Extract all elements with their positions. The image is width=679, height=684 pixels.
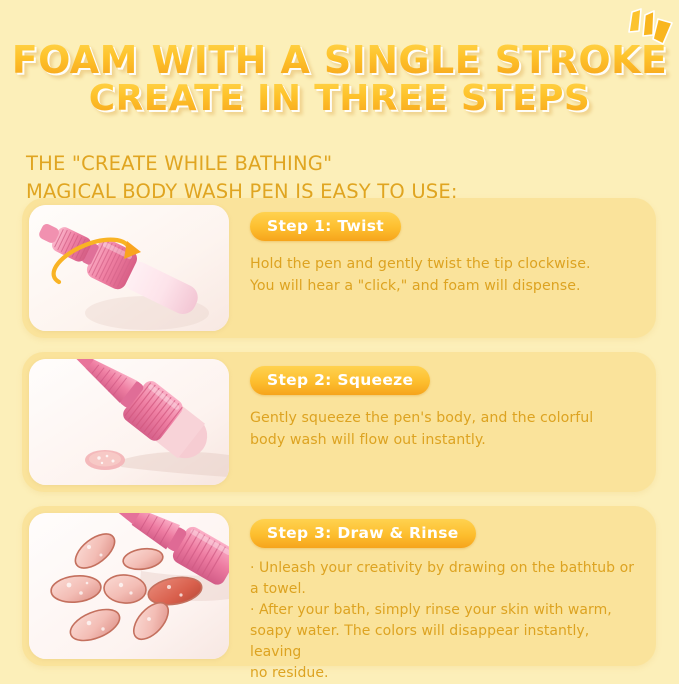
- step-2-description: Gently squeeze the pen's body, and the c…: [250, 407, 638, 451]
- step-card-3: Step 3: Draw & Rinse · Unleash your crea…: [22, 506, 656, 666]
- infographic-page: FOAM WITH A SINGLE STROKE CREATE IN THRE…: [0, 0, 679, 679]
- step-3-badge: Step 3: Draw & Rinse: [250, 519, 476, 548]
- step-3-description: · Unleash your creativity by drawing on …: [250, 558, 638, 684]
- step-3-body: Step 3: Draw & Rinse · Unleash your crea…: [250, 519, 638, 684]
- step-2-body: Step 2: Squeeze Gently squeeze the pen's…: [250, 366, 638, 451]
- step-card-2: Step 2: Squeeze Gently squeeze the pen's…: [22, 352, 656, 492]
- step-3-photo: [29, 513, 229, 659]
- headline-line-1: FOAM WITH A SINGLE STROKE: [0, 42, 679, 79]
- step-3-desc-line-5: no residue.: [250, 663, 638, 684]
- step-2-badge: Step 2: Squeeze: [250, 366, 430, 395]
- step-3-desc-line-3: · After your bath, simply rinse your ski…: [250, 600, 638, 621]
- subtitle-line-1: THE "CREATE WHILE BATHING": [26, 150, 646, 178]
- step-1-desc-line-1: Hold the pen and gently twist the tip cl…: [250, 253, 638, 275]
- page-title: FOAM WITH A SINGLE STROKE CREATE IN THRE…: [0, 42, 679, 117]
- step-1-photo: [29, 205, 229, 331]
- step-1-desc-line-2: You will hear a "click," and foam will d…: [250, 275, 638, 297]
- step-3-desc-line-1: · Unleash your creativity by drawing on …: [250, 558, 638, 579]
- step-2-desc-line-1: Gently squeeze the pen's body, and the c…: [250, 407, 638, 429]
- step-3-desc-line-2: a towel.: [250, 579, 638, 600]
- headline-line-2: CREATE IN THREE STEPS: [0, 81, 679, 116]
- step-card-1: Step 1: Twist Hold the pen and gently tw…: [22, 198, 656, 338]
- step-2-desc-line-2: body wash will flow out instantly.: [250, 429, 638, 451]
- step-3-desc-line-4: soapy water. The colors will disappear i…: [250, 621, 638, 663]
- step-1-badge: Step 1: Twist: [250, 212, 401, 241]
- step-1-description: Hold the pen and gently twist the tip cl…: [250, 253, 638, 297]
- step-1-body: Step 1: Twist Hold the pen and gently tw…: [250, 212, 638, 297]
- step-2-photo: [29, 359, 229, 485]
